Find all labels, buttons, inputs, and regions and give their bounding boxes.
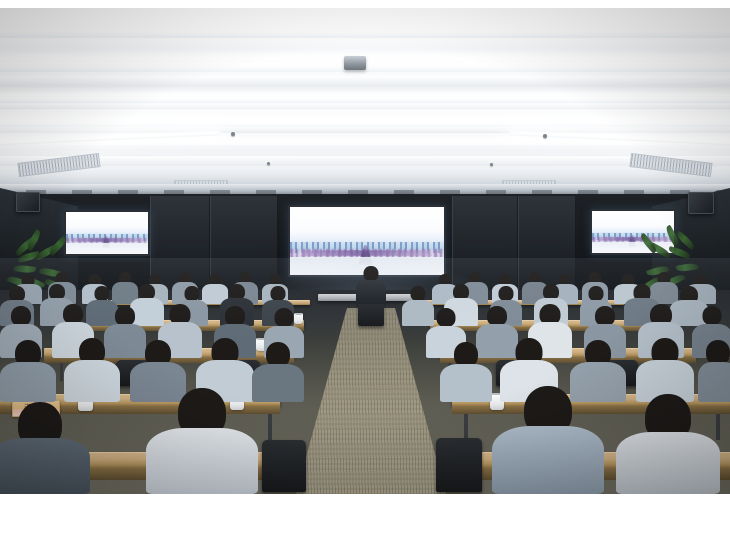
ceiling-sensor-icon <box>543 134 547 138</box>
wall-speaker-right <box>688 192 714 214</box>
ceiling-soffit-mid <box>0 126 730 133</box>
ceiling-soffit-far <box>0 104 730 109</box>
attendee <box>636 338 694 402</box>
ceiling-light-strip <box>0 22 730 38</box>
attendee <box>0 340 56 402</box>
main-screen-image <box>290 207 444 275</box>
presenter <box>356 266 386 304</box>
letterbox-bottom <box>0 494 730 548</box>
ceiling-sensor-icon <box>490 163 493 166</box>
attendee <box>698 340 730 402</box>
ceiling-light-strip <box>0 120 730 127</box>
letterbox-top <box>0 0 730 8</box>
ceiling-light-strip <box>0 94 730 103</box>
ceiling-sensor-icon <box>267 162 270 165</box>
conference-room-photo: 张建华 干子台 <box>0 8 730 494</box>
desk-leg <box>464 414 468 440</box>
desk-leg <box>60 363 63 381</box>
ceiling-light-strip <box>0 141 730 147</box>
ceiling-projector <box>344 56 366 70</box>
ceiling-light-strip <box>0 166 730 171</box>
attendee <box>440 342 492 402</box>
attendee <box>0 402 90 494</box>
desk-leg <box>268 414 272 440</box>
ceiling-sensor-icon <box>231 132 235 136</box>
wall-speaker-left <box>16 192 40 212</box>
office-chair[interactable] <box>436 438 482 492</box>
attendee <box>146 388 258 494</box>
attendee <box>492 386 604 494</box>
attendee <box>616 394 720 494</box>
screenshot-root: 张建华 干子台 <box>0 0 730 548</box>
office-chair[interactable] <box>262 440 306 492</box>
attendee <box>252 342 304 402</box>
attendee <box>64 338 120 402</box>
